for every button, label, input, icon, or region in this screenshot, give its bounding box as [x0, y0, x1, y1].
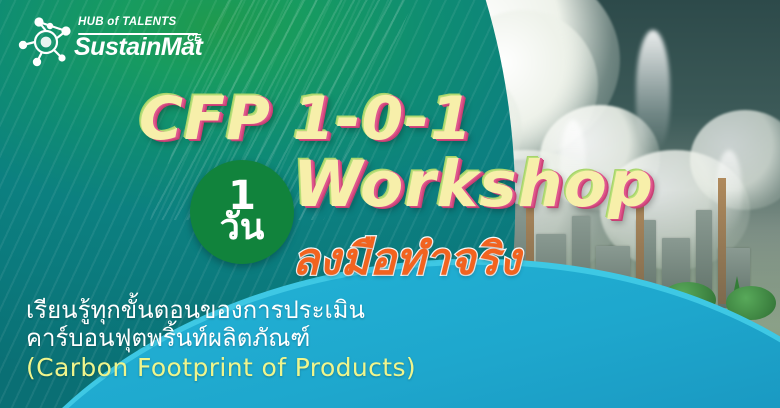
promotional-banner: HUB of TALENTS SustainMat CE CFP 1-0-1 1…: [0, 0, 780, 408]
description-line-1: เรียนรู้ทุกขั้นตอนของการประเมิน: [26, 296, 456, 324]
duration-badge: 1 วัน: [190, 160, 294, 264]
badge-unit: วัน: [220, 211, 265, 245]
headline-line-1: CFP 1-0-1: [139, 84, 473, 154]
description-line-3: (Carbon Footprint of Products): [26, 353, 456, 383]
headline-thai-subtitle: ลงมือทำจริง: [292, 224, 521, 294]
description-block: เรียนรู้ทุกขั้นตอนของการประเมิน คาร์บอนฟ…: [26, 296, 456, 382]
description-line-2: คาร์บอนฟุตพริ้นท์ผลิตภัณฑ์: [26, 324, 456, 352]
headline-line-2: Workshop: [293, 148, 654, 221]
